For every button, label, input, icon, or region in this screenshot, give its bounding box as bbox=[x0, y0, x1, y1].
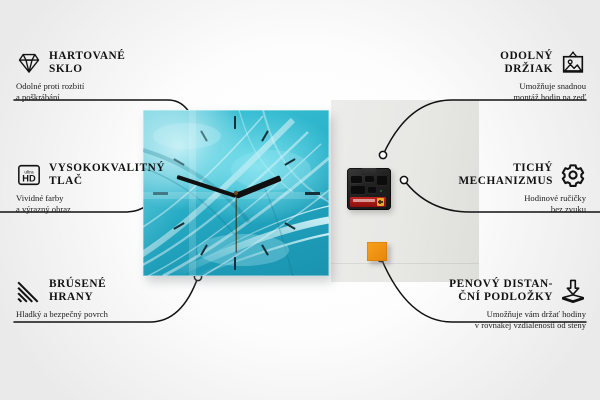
feature-foam-distance-pads: PENOVÝ DISTAN- ČNÍ PODLOŽKY Umožňuje vám… bbox=[376, 278, 586, 331]
mechanism-hook bbox=[362, 168, 377, 175]
feature-heading: TICHÝ MECHANIZMUS bbox=[396, 162, 586, 189]
product-foam-pad bbox=[367, 242, 391, 266]
feature-title: VYSOKOKVALITNÝ TLAČ bbox=[49, 162, 165, 189]
tick-3 bbox=[305, 192, 320, 195]
ultra-hd-icon: ultra HD bbox=[16, 162, 42, 188]
mechanism-block-2 bbox=[365, 176, 374, 182]
feature-description: Hodinové ručičky bez zvuku bbox=[396, 189, 586, 215]
mechanism-body bbox=[347, 168, 391, 210]
gear-icon bbox=[560, 162, 586, 188]
feature-durable-hanger: ODOLNÝ DRŽIAK Umožňuje snadnou montáž ho… bbox=[396, 50, 586, 103]
feature-heading: PENOVÝ DISTAN- ČNÍ PODLOŽKY bbox=[376, 278, 586, 305]
feature-heading: ultra HD VYSOKOKVALITNÝ TLAČ bbox=[16, 162, 196, 189]
feature-description: Umožňuje vám držať hodiny v rovnakej vzd… bbox=[376, 305, 586, 331]
picture-frame-icon bbox=[560, 50, 586, 76]
feature-description: Umožňuje snadnou montáž hodin na zeď bbox=[396, 77, 586, 103]
connector-dot-hanger bbox=[379, 151, 386, 158]
feature-title: PENOVÝ DISTAN- ČNÍ PODLOŽKY bbox=[449, 278, 553, 305]
mechanism-battery bbox=[350, 197, 386, 207]
feature-ground-edges: BRÚSENÉ HRANY Hladký a bezpečný povrch bbox=[16, 278, 216, 320]
feature-description: Vividné farby a výrazný obraz bbox=[16, 189, 196, 215]
feature-title: TICHÝ MECHANIZMUS bbox=[458, 162, 553, 189]
tick-12 bbox=[234, 116, 236, 129]
mechanism-block-5 bbox=[368, 187, 376, 193]
mechanism-indicator bbox=[380, 190, 382, 192]
diamond-icon bbox=[16, 50, 42, 76]
product-mechanism bbox=[347, 168, 393, 214]
ultra-hd-icon-main-label: HD bbox=[22, 174, 36, 184]
feature-tempered-glass: HARTOVANÉ SKLO Odolné proti rozbití a po… bbox=[16, 50, 196, 103]
infographic-canvas: HARTOVANÉ SKLO Odolné proti rozbití a po… bbox=[0, 0, 600, 400]
mechanism-block-3 bbox=[377, 176, 387, 185]
battery-terminal bbox=[377, 198, 384, 206]
battery-label bbox=[353, 199, 375, 202]
clock-pivot bbox=[234, 191, 238, 195]
feature-heading: HARTOVANÉ SKLO bbox=[16, 50, 196, 77]
connector-line-hanger bbox=[383, 100, 586, 155]
feature-description: Odolné proti rozbití a poškrábání bbox=[16, 77, 196, 103]
second-hand bbox=[235, 195, 236, 253]
feature-title: ODOLNÝ DRŽIAK bbox=[500, 50, 553, 77]
foam-pad-body bbox=[367, 242, 387, 261]
feature-title: HARTOVANÉ SKLO bbox=[49, 50, 125, 77]
feature-heading: BRÚSENÉ HRANY bbox=[16, 278, 216, 305]
feature-description: Hladký a bezpečný povrch bbox=[16, 305, 216, 320]
down-arrow-pad-icon bbox=[560, 278, 586, 304]
feature-high-quality-print: ultra HD VYSOKOKVALITNÝ TLAČ Vividné far… bbox=[16, 162, 196, 215]
feature-heading: ODOLNÝ DRŽIAK bbox=[396, 50, 586, 77]
tick-6 bbox=[234, 257, 236, 270]
feature-title: BRÚSENÉ HRANY bbox=[49, 278, 106, 305]
mechanism-block-4 bbox=[351, 186, 365, 194]
hatched-edge-icon bbox=[16, 278, 42, 304]
mechanism-block-1 bbox=[351, 176, 362, 183]
feature-quiet-mechanism: TICHÝ MECHANIZMUS Hodinové ručičky bez z… bbox=[396, 162, 586, 215]
